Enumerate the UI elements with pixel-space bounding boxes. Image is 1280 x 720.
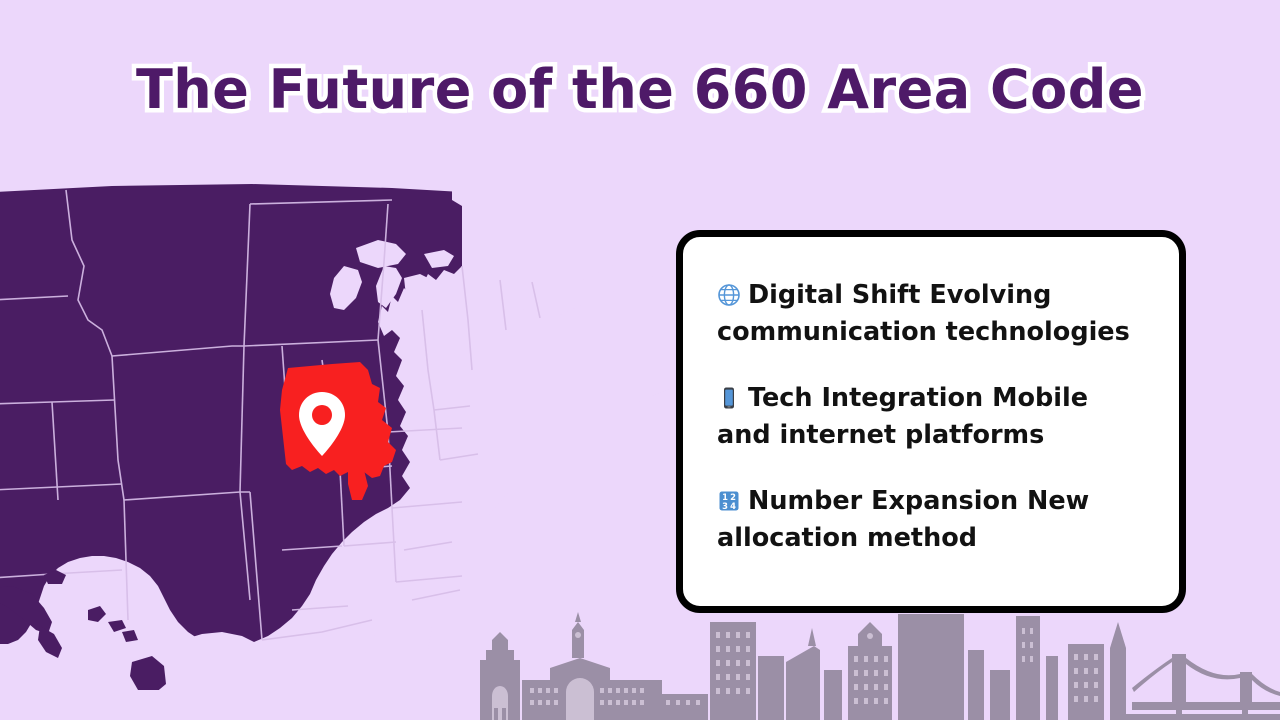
bullet-item-tech-integration: Tech Integration Mobile and internet pla… bbox=[717, 380, 1149, 454]
bullet-item-digital-shift: Digital Shift Evolving communication tec… bbox=[717, 277, 1149, 351]
bullet-item-number-expansion: 1 2 3 4 Number Expansion New allocation … bbox=[717, 483, 1149, 557]
globe-icon bbox=[717, 281, 743, 307]
info-card: Digital Shift Evolving communication tec… bbox=[676, 230, 1186, 613]
infographic-canvas: The Future of the 660 Area Code bbox=[0, 0, 1280, 720]
bullet-text-tech-integration: Tech Integration Mobile and internet pla… bbox=[717, 383, 1088, 450]
mobile-phone-icon bbox=[717, 384, 743, 410]
skyline-svg bbox=[420, 610, 1280, 720]
title-container: The Future of the 660 Area Code bbox=[0, 58, 1280, 121]
page-title: The Future of the 660 Area Code bbox=[136, 58, 1144, 121]
input-numbers-icon: 1 2 3 4 bbox=[717, 487, 743, 513]
city-skyline-silhouette bbox=[420, 610, 1280, 720]
svg-text:3: 3 bbox=[722, 501, 728, 511]
bullet-text-number-expansion: Number Expansion New allocation method bbox=[717, 486, 1089, 553]
bullet-text-digital-shift: Digital Shift Evolving communication tec… bbox=[717, 280, 1130, 347]
svg-text:4: 4 bbox=[730, 501, 736, 511]
